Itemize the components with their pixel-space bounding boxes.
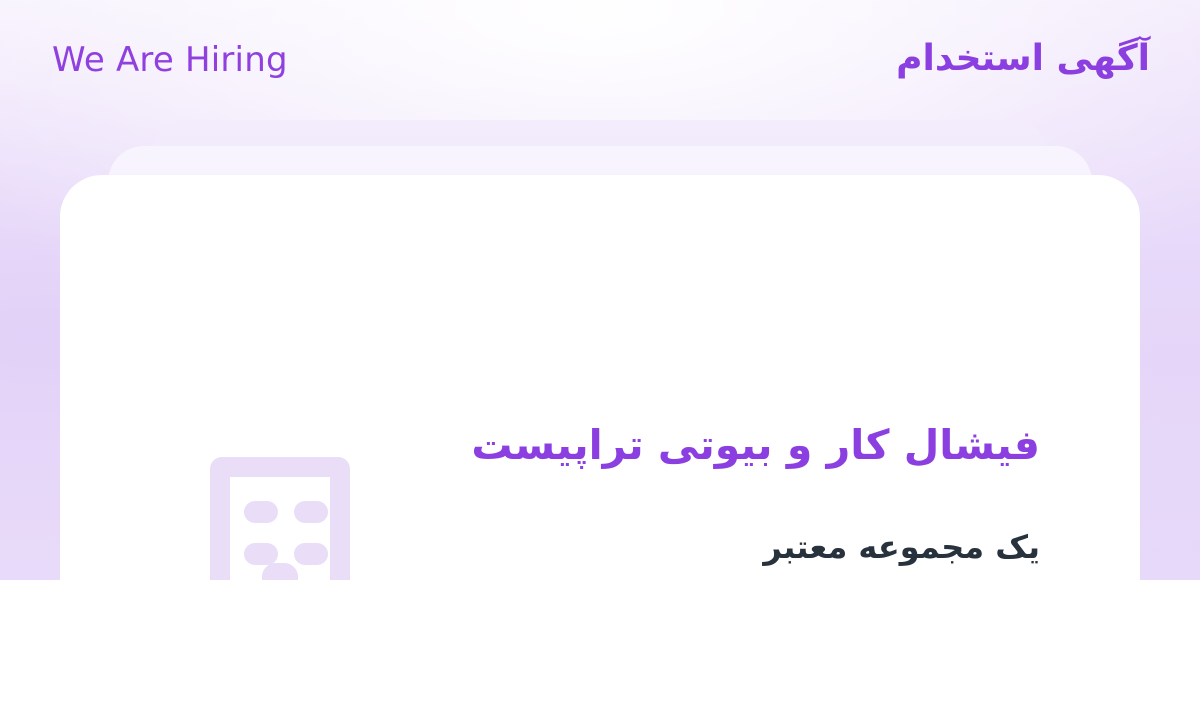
header-english-label: We Are Hiring (52, 40, 288, 80)
company-name: یک مجموعه معتبر (400, 525, 1040, 570)
header-persian-label: آگهی استخدام (896, 36, 1150, 81)
poster-footer: کاملترین ابزار استخدامی کشور ای-اســـتخد… (0, 580, 1200, 705)
hiring-poster: We Are Hiring آگهی استخدام فیشال کار و ب… (0, 0, 1200, 705)
job-title: فیشال کار و بیوتی تراپیست (400, 418, 1040, 473)
job-card: فیشال کار و بیوتی تراپیست یک مجموعه معتب… (60, 175, 1140, 581)
